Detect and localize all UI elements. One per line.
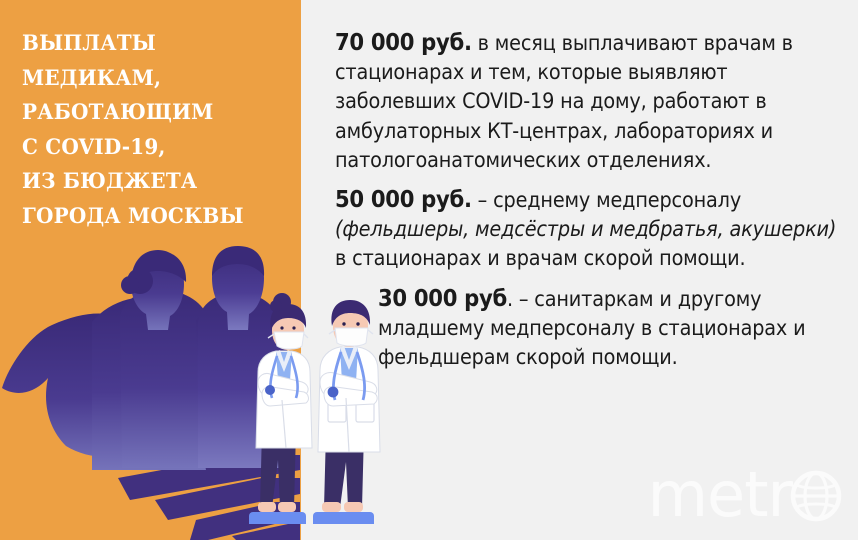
- page-title: ВЫПЛАТЫ МЕДИКАМ, РАБОТАЮЩИМ С COVID-19, …: [22, 27, 273, 234]
- payment-description-50000-part1: – среднему медперсоналу: [472, 188, 741, 213]
- payment-paragraph-30000: 30 000 руб. – санитаркам и другому младш…: [378, 284, 840, 373]
- globe-icon: [790, 470, 842, 522]
- amount-50000: 50 000 руб.: [335, 185, 472, 213]
- payment-paragraph-70000: 70 000 руб. в месяц выплачивают врачам в…: [335, 28, 840, 175]
- watermark-text: metr: [648, 464, 792, 526]
- amount-70000: 70 000 руб.: [335, 28, 472, 56]
- payment-roles-italic-50000: (фельдшеры, медсёстры и медбратья, акуше…: [335, 217, 836, 242]
- payment-paragraph-50000: 50 000 руб. – среднему медперсоналу (фел…: [335, 185, 840, 274]
- payment-description-50000-part2: в стационарах и врачам скорой помощи.: [335, 246, 745, 271]
- payments-text-column: 70 000 руб. в месяц выплачивают врачам в…: [335, 28, 840, 382]
- metro-watermark: metr: [648, 464, 842, 526]
- amount-30000: 30 000 руб: [378, 284, 507, 312]
- infographic-page: ВЫПЛАТЫ МЕДИКАМ, РАБОТАЮЩИМ С COVID-19, …: [0, 0, 858, 540]
- orange-title-panel: ВЫПЛАТЫ МЕДИКАМ, РАБОТАЮЩИМ С COVID-19, …: [0, 0, 301, 540]
